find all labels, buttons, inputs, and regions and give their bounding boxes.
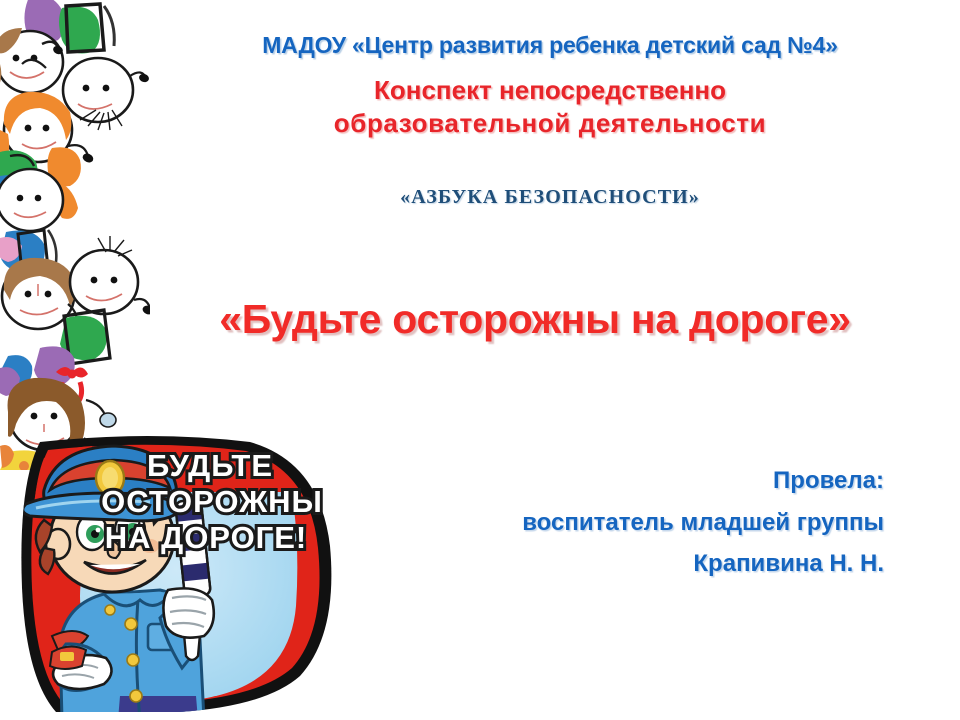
credits-conducted-by-label: Провела: (364, 460, 884, 502)
program-title: «АЗБУКА БЕЗОПАСНОСТИ» (150, 186, 950, 209)
page-title: «Будьте осторожны на дороге» (120, 296, 950, 343)
document-type-line-2: образовательной деятельности (150, 107, 950, 140)
sign-text-line-1: БУДЬТЕ (147, 448, 273, 483)
credits-role: воспитатель младшей группы (364, 502, 884, 544)
sign-text-line-3: НА ДОРОГЕ! (105, 520, 308, 555)
organization-name: МАДОУ «Центр развития ребенка детский са… (150, 32, 950, 59)
kids-doodle-border (0, 0, 150, 470)
sign-text-group: БУДЬТЕ ОСТОРОЖНЫ НА ДОРОГЕ! (101, 448, 323, 555)
document-type-heading: Конспект непосредственно образовательной… (150, 74, 950, 140)
presentation-slide: МАДОУ «Центр развития ребенка детский са… (0, 0, 960, 720)
sign-text-line-2: ОСТОРОЖНЫ (101, 484, 323, 519)
road-safety-sign-illustration: БУДЬТЕ ОСТОРОЖНЫ НА ДОРОГЕ! (0, 428, 360, 720)
credits-author-name: Крапивина Н. Н. (364, 543, 884, 585)
credits-block: Провела: воспитатель младшей группы Крап… (364, 460, 884, 585)
document-type-line-1: Конспект непосредственно (150, 74, 950, 107)
